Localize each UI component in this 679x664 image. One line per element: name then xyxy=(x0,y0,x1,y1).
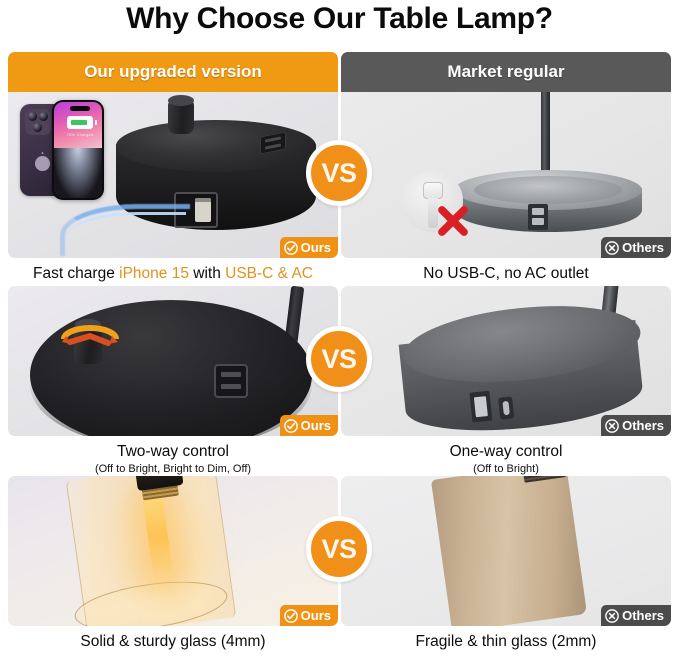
circle-x-icon xyxy=(605,419,619,433)
caption-part-accent: USB-C & AC xyxy=(225,265,313,282)
notch-icon xyxy=(70,106,90,111)
caption-part-plain: Fast charge xyxy=(33,265,119,282)
badge-others-label: Others xyxy=(622,418,664,433)
caption-ours-control: Two-way control (Off to Bright, Bright t… xyxy=(8,442,338,477)
artwork-knob-twoway xyxy=(8,286,338,436)
ac-outlet-icon xyxy=(214,364,248,398)
artwork-amber-glass-lit xyxy=(8,476,338,626)
caption-subtext: (Off to Bright) xyxy=(341,462,671,477)
apple-logo-body-icon xyxy=(35,156,50,171)
badge-ours: Ours xyxy=(280,237,338,258)
caption-others-glass: Fragile & thin glass (2mm) xyxy=(341,632,671,652)
caption-text: No USB-C, no AC outlet xyxy=(341,264,671,284)
vs-label: VS xyxy=(321,344,356,375)
camera-lens-icon xyxy=(28,112,37,121)
vs-label: VS xyxy=(321,534,356,565)
artwork-black-base-charging: 70% Charged xyxy=(8,92,338,258)
badge-others: Others xyxy=(601,415,671,436)
image-panel-others-control: Others xyxy=(341,286,671,436)
badge-ours-label: Ours xyxy=(301,418,331,433)
circle-x-icon xyxy=(605,241,619,255)
header-others-label: Market regular xyxy=(447,62,564,82)
caption-ours-charging: Fast charge iPhone 15 with USB-C & AC xyxy=(8,264,338,284)
caption-others-control: One-way control (Off to Bright) xyxy=(341,442,671,477)
artwork-grey-base-oneway xyxy=(341,286,671,436)
usb-port-icon xyxy=(528,204,548,230)
circle-x-icon xyxy=(605,609,619,623)
usb-ports-group xyxy=(469,387,524,426)
battery-tip-icon xyxy=(95,120,97,125)
charge-status-text: 70% Charged xyxy=(54,132,104,137)
image-panel-others-charging: Others xyxy=(341,92,671,258)
caption-text: Two-way control xyxy=(8,442,338,462)
usbc-connector-icon xyxy=(423,182,443,199)
header-ours-label: Our upgraded version xyxy=(84,62,262,82)
artwork-opaque-shade xyxy=(341,476,671,626)
page-title: Why Choose Our Table Lamp? xyxy=(0,2,679,36)
badge-others: Others xyxy=(601,237,671,258)
battery-icon xyxy=(67,116,93,129)
caption-part-plain: with xyxy=(189,265,225,282)
red-x-icon xyxy=(436,204,470,238)
knob-icon xyxy=(168,100,194,134)
camera-lens-icon xyxy=(39,112,48,121)
header-ours: Our upgraded version xyxy=(8,52,338,92)
lamp-base-top xyxy=(116,120,316,172)
caption-part-accent: iPhone 15 xyxy=(119,265,189,282)
vs-badge-charging: VS xyxy=(306,140,372,206)
badge-ours: Ours xyxy=(280,415,338,436)
camera-plate-icon xyxy=(25,109,51,135)
comparison-infographic: Why Choose Our Table Lamp? Our upgraded … xyxy=(0,0,679,664)
vs-badge-glass: VS xyxy=(306,516,372,582)
image-panel-ours-control: Ours xyxy=(8,286,338,436)
caption-text: Solid & sturdy glass (4mm) xyxy=(8,632,338,652)
caption-others-charging: No USB-C, no AC outlet xyxy=(341,264,671,284)
image-panel-ours-glass: Ours xyxy=(8,476,338,626)
badge-ours-label: Ours xyxy=(301,240,331,255)
usb-a-port-icon xyxy=(469,391,492,423)
rotation-arrow-icon xyxy=(60,322,120,352)
image-panel-others-glass: Others xyxy=(341,476,671,626)
circle-check-icon xyxy=(284,609,298,623)
badge-others-label: Others xyxy=(622,240,664,255)
caption-text: One-way control xyxy=(341,442,671,462)
badge-others-label: Others xyxy=(622,608,664,623)
vs-label: VS xyxy=(321,158,356,189)
header-others: Market regular xyxy=(341,52,671,92)
badge-ours-label: Ours xyxy=(301,608,331,623)
circle-check-icon xyxy=(284,241,298,255)
image-panel-ours-charging: 70% Charged Ours xyxy=(8,92,338,258)
caption-subtext: (Off to Bright, Bright to Dim, Off) xyxy=(8,462,338,477)
phone-front-view: 70% Charged xyxy=(52,100,104,200)
badge-others: Others xyxy=(601,605,671,626)
usb-c-port-icon xyxy=(498,396,514,419)
phone-screen-bottom xyxy=(54,148,102,198)
camera-lens-icon xyxy=(33,123,42,132)
lamp-base-inner xyxy=(474,176,622,204)
artwork-grey-base-nousbc xyxy=(341,92,671,258)
circle-check-icon xyxy=(284,419,298,433)
badge-ours: Ours xyxy=(280,605,338,626)
caption-ours-glass: Solid & sturdy glass (4mm) xyxy=(8,632,338,652)
vs-badge-control: VS xyxy=(306,326,372,392)
glass-shade xyxy=(431,476,587,626)
phone-screen-top: 70% Charged xyxy=(54,102,102,148)
caption-text: Fast charge iPhone 15 with USB-C & AC xyxy=(8,264,338,284)
caption-text: Fragile & thin glass (2mm) xyxy=(341,632,671,652)
